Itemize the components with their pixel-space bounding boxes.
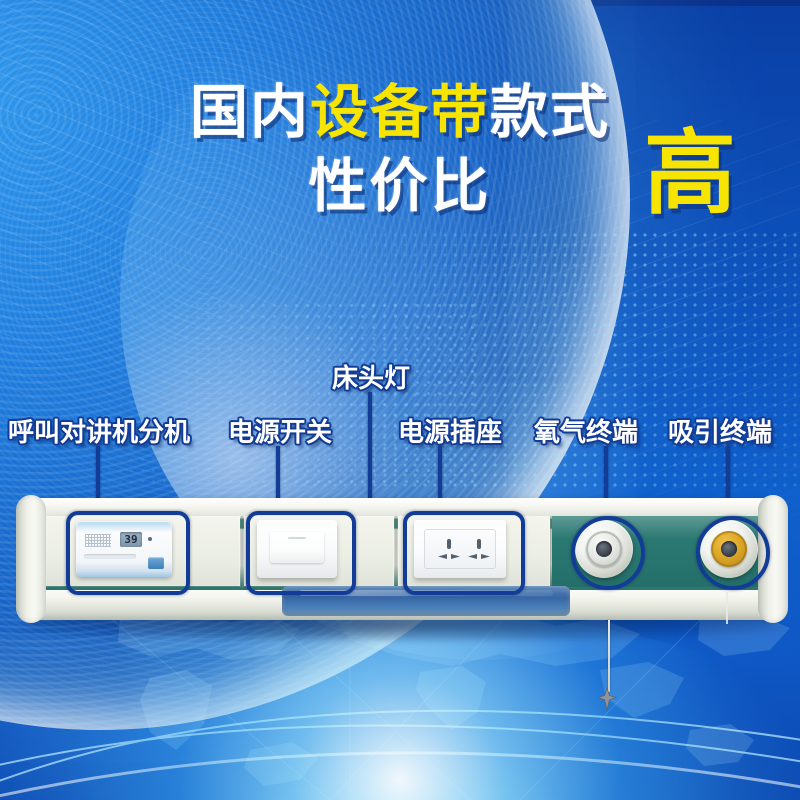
- bar-seam-1: [241, 512, 243, 588]
- highlight-box-power-socket: [403, 511, 525, 595]
- pull-cord-weight-icon[interactable]: [594, 686, 620, 712]
- highlight-circle-oxygen: [571, 516, 645, 590]
- bar-seam-3: [550, 512, 552, 588]
- callout-label-power-switch: 电源开关: [228, 412, 332, 449]
- highlight-box-power-switch: [246, 511, 356, 595]
- bar-seam-2: [395, 512, 397, 588]
- bar-end-cap-left: [16, 495, 46, 623]
- highlight-box-intercom: [66, 511, 190, 595]
- suction-terminal-drip-line: [726, 592, 728, 624]
- headline-emphasis-gao: 高: [644, 128, 736, 220]
- callout-label-oxygen: 氧气终端: [534, 412, 638, 449]
- highlight-circle-suction: [696, 516, 770, 590]
- callout-label-suction: 吸引终端: [668, 412, 772, 449]
- poster-canvas: 国内设备带款式 性价比 高 呼叫对讲机分机 电源开关 床头灯 电源插座 氧气终端…: [0, 0, 800, 800]
- medical-bed-head-unit: 39: [22, 498, 782, 620]
- nurse-call-pull-cord[interactable]: [608, 620, 610, 692]
- callout-label-power-socket: 电源插座: [398, 412, 502, 449]
- halftone-dot-field-secondary: [60, 300, 480, 490]
- callout-label-bed-light: 床头灯: [332, 358, 410, 395]
- callout-label-intercom: 呼叫对讲机分机: [8, 412, 190, 449]
